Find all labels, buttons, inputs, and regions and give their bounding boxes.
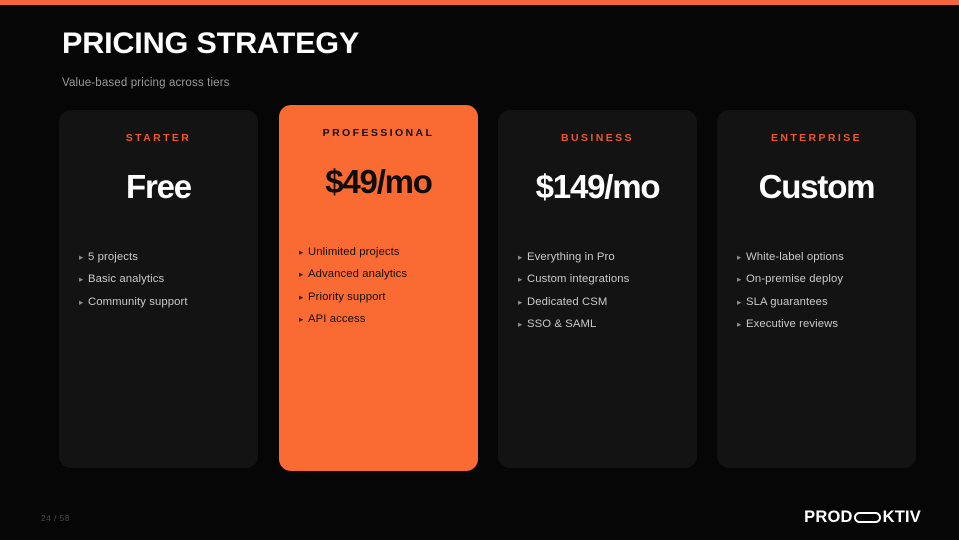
triangle-bullet-icon: ▸ — [737, 252, 746, 263]
triangle-bullet-icon: ▸ — [79, 274, 88, 285]
page-subtitle: Value-based pricing across tiers — [62, 77, 353, 89]
feature-list: ▸ 5 projects ▸ Basic analytics ▸ Communi… — [79, 252, 238, 308]
tier-label: ENTERPRISE — [737, 132, 896, 144]
pricing-card-business[interactable]: BUSINESS $149/mo ▸ Everything in Pro ▸ C… — [498, 110, 697, 468]
feature-label: API access — [308, 314, 458, 325]
feature-label: Basic analytics — [88, 274, 238, 285]
feature-label: SSO & SAML — [527, 319, 677, 330]
triangle-bullet-icon: ▸ — [79, 297, 88, 308]
page-title: PRICING STRATEGY — [62, 28, 359, 60]
triangle-bullet-icon: ▸ — [299, 247, 308, 258]
tier-label: BUSINESS — [518, 132, 677, 144]
triangle-bullet-icon: ▸ — [299, 314, 308, 325]
pricing-card-professional[interactable]: PROFESSIONAL $49/mo ▸ Unlimited projects… — [279, 105, 478, 471]
triangle-bullet-icon: ▸ — [299, 292, 308, 303]
triangle-bullet-icon: ▸ — [518, 252, 527, 263]
triangle-bullet-icon: ▸ — [737, 319, 746, 330]
feature-label: Advanced analytics — [308, 269, 458, 280]
triangle-bullet-icon: ▸ — [737, 274, 746, 285]
list-item: ▸ Everything in Pro — [518, 252, 677, 263]
feature-label: Community support — [88, 297, 238, 308]
tier-price: Free — [79, 170, 238, 203]
list-item: ▸ Custom integrations — [518, 274, 677, 285]
brand-name-prefix: PROD — [804, 509, 852, 526]
feature-label: 5 projects — [88, 252, 238, 263]
tier-price: Custom — [737, 170, 896, 203]
feature-label: Unlimited projects — [308, 247, 458, 258]
tier-label: STARTER — [79, 132, 238, 144]
list-item: ▸ Advanced analytics — [299, 269, 458, 280]
tier-price: $49/mo — [299, 165, 458, 198]
list-item: ▸ White-label options — [737, 252, 896, 263]
list-item: ▸ Unlimited projects — [299, 247, 458, 258]
triangle-bullet-icon: ▸ — [518, 319, 527, 330]
feature-label: Executive reviews — [746, 319, 896, 330]
triangle-bullet-icon: ▸ — [518, 297, 527, 308]
feature-label: Custom integrations — [527, 274, 677, 285]
feature-label: White-label options — [746, 252, 896, 263]
pricing-tier-row: STARTER Free ▸ 5 projects ▸ Basic analyt… — [59, 110, 919, 472]
pricing-card-enterprise[interactable]: ENTERPRISE Custom ▸ White-label options … — [717, 110, 916, 468]
tier-price: $149/mo — [518, 170, 677, 203]
feature-list: ▸ Unlimited projects ▸ Advanced analytic… — [299, 247, 458, 326]
brand-name-suffix: KTIV — [883, 509, 921, 526]
top-accent-bar — [0, 0, 959, 5]
feature-list: ▸ Everything in Pro ▸ Custom integration… — [518, 252, 677, 331]
triangle-bullet-icon: ▸ — [518, 274, 527, 285]
list-item: ▸ Dedicated CSM — [518, 297, 677, 308]
list-item: ▸ Community support — [79, 297, 238, 308]
list-item: ▸ API access — [299, 314, 458, 325]
list-item: ▸ Executive reviews — [737, 319, 896, 330]
feature-list: ▸ White-label options ▸ On-premise deplo… — [737, 252, 896, 331]
list-item: ▸ Basic analytics — [79, 274, 238, 285]
triangle-bullet-icon: ▸ — [79, 252, 88, 263]
slide-header: PRICING STRATEGY Value-based pricing acr… — [62, 28, 353, 89]
list-item: ▸ SSO & SAML — [518, 319, 677, 330]
list-item: ▸ 5 projects — [79, 252, 238, 263]
brand-logo: PROD KTIV — [804, 508, 921, 526]
slide-canvas: PRICING STRATEGY Value-based pricing acr… — [0, 0, 959, 540]
triangle-bullet-icon: ▸ — [737, 297, 746, 308]
list-item: ▸ SLA guarantees — [737, 297, 896, 308]
feature-label: Everything in Pro — [527, 252, 677, 263]
triangle-bullet-icon: ▸ — [299, 269, 308, 280]
feature-label: Dedicated CSM — [527, 297, 677, 308]
list-item: ▸ On-premise deploy — [737, 274, 896, 285]
feature-label: SLA guarantees — [746, 297, 896, 308]
feature-label: Priority support — [308, 292, 458, 303]
pricing-card-starter[interactable]: STARTER Free ▸ 5 projects ▸ Basic analyt… — [59, 110, 258, 468]
page-number: 24 / 58 — [41, 513, 70, 523]
list-item: ▸ Priority support — [299, 292, 458, 303]
feature-label: On-premise deploy — [746, 274, 896, 285]
tier-label: PROFESSIONAL — [299, 127, 458, 139]
stadium-outline-icon — [854, 512, 881, 523]
